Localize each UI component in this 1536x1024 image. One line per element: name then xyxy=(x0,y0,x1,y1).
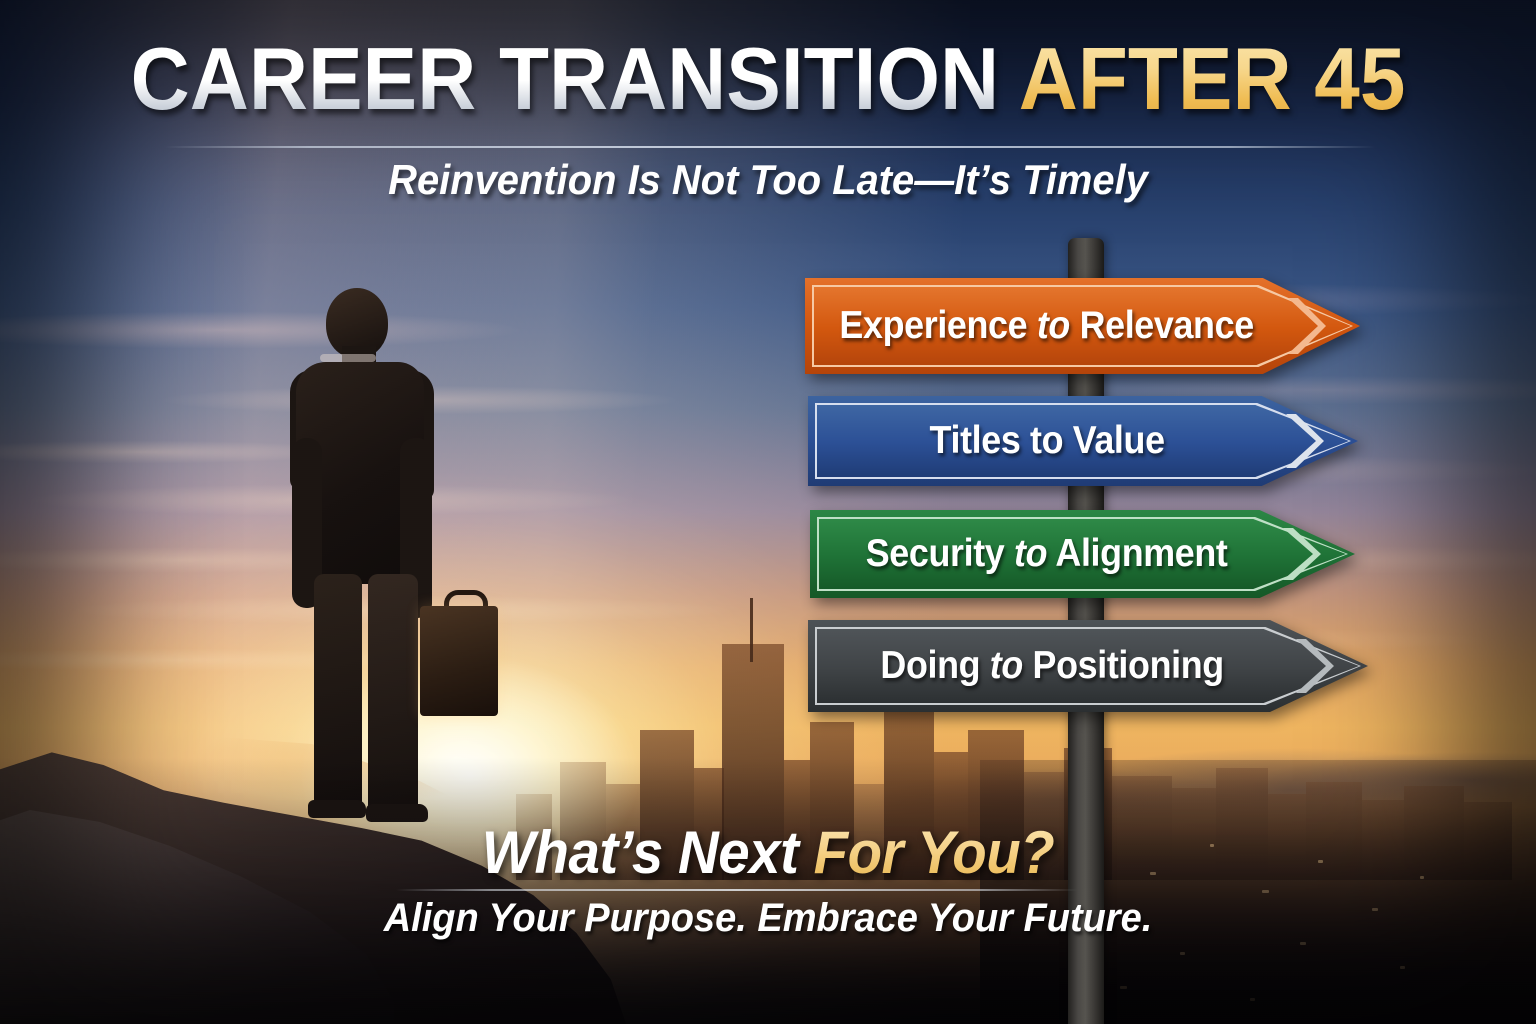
sign-security-to-alignment[interactable]: Security to Alignment xyxy=(810,510,1355,598)
sign-doing-to-positioning[interactable]: Doing to Positioning xyxy=(808,620,1368,712)
call-to-action: What’s Next For You? xyxy=(46,818,1490,887)
subtitle: Reinvention Is Not Too Late—It’s Timely xyxy=(38,156,1497,204)
sign-face: Doing to Positioning xyxy=(808,620,1368,712)
cta-white-part: What’s Next xyxy=(482,819,814,886)
sign-face: Experience to Relevance xyxy=(805,278,1360,374)
cta-gold-part: For You? xyxy=(814,819,1055,886)
sign-label: Titles to Value xyxy=(830,419,1336,463)
chevron-right-icon xyxy=(1290,635,1334,697)
title-white-part: CAREER TRANSITION xyxy=(131,29,999,128)
career-transition-poster: Experience to Relevance Titles to Value xyxy=(0,0,1536,1024)
chevron-right-icon xyxy=(1282,294,1326,358)
title-divider xyxy=(165,146,1375,148)
tagline: Align Your Purpose. Embrace Your Future. xyxy=(38,896,1497,941)
page-title: CAREER TRANSITION AFTER 45 xyxy=(54,28,1482,130)
sign-titles-to-value[interactable]: Titles to Value xyxy=(808,396,1358,486)
sign-label: Security to Alignment xyxy=(832,532,1333,576)
sign-face: Security to Alignment xyxy=(810,510,1355,598)
title-gold-part: AFTER 45 xyxy=(1019,29,1406,128)
sign-face: Titles to Value xyxy=(808,396,1358,486)
footer-divider xyxy=(396,889,1078,891)
chevron-right-icon xyxy=(1280,410,1324,472)
sign-label: Doing to Positioning xyxy=(830,644,1345,688)
chevron-right-icon xyxy=(1277,524,1321,584)
sign-label: Experience to Relevance xyxy=(827,304,1338,348)
sign-experience-to-relevance[interactable]: Experience to Relevance xyxy=(805,278,1360,374)
